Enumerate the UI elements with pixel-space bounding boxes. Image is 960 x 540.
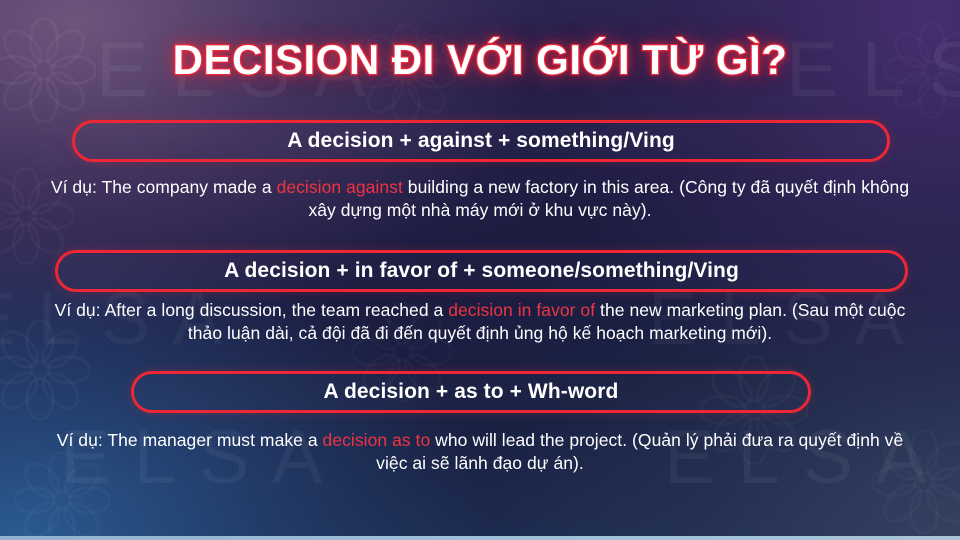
example-sentence-1: Ví dụ: The company made a decision again… [50,176,910,222]
bottom-accent-strip [0,536,960,540]
structure-pill-2: A decision + in favor of + someone/somet… [55,250,908,292]
structure-pattern-text: A decision + as to + Wh-word [324,380,619,404]
example-highlight: decision against [277,177,403,197]
example-highlight: decision in favor of [448,300,595,320]
slide-canvas: ELSA ELSA ELSA ELSA ELSA ELSA DECISION Đ… [0,0,960,540]
example-prefix: Ví dụ: The manager must make a [57,430,323,450]
example-prefix: Ví dụ: After a long discussion, the team… [55,300,449,320]
structure-pattern-text: A decision + against + something/Ving [287,129,675,153]
structure-pill-3: A decision + as to + Wh-word [131,371,811,413]
example-highlight: decision as to [323,430,431,450]
example-sentence-2: Ví dụ: After a long discussion, the team… [48,299,912,345]
structure-pill-1: A decision + against + something/Ving [72,120,890,162]
page-title: DECISION ĐI VỚI GIỚI TỪ GÌ? [0,36,960,84]
example-suffix: who will lead the project. (Quản lý phải… [376,430,903,473]
example-sentence-3: Ví dụ: The manager must make a decision … [50,429,910,475]
example-prefix: Ví dụ: The company made a [51,177,277,197]
structure-pattern-text: A decision + in favor of + someone/somet… [224,259,739,283]
